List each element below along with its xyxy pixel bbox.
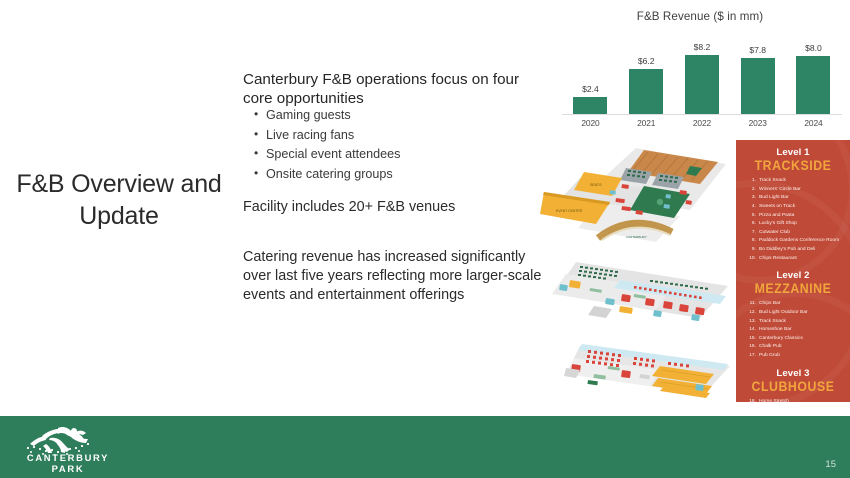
- venue-name: Track Snack: [759, 319, 786, 324]
- bar-column: $8.2: [678, 36, 727, 114]
- bar: [741, 58, 775, 114]
- bar-column: $2.4: [566, 36, 615, 114]
- venue-item: 12.Bud Light Outdoor Bar: [745, 309, 844, 318]
- venue-item: 16.Chalk Pub: [745, 343, 844, 352]
- venue-list-level-1: 1.Track Snack 2.Winners' Circle Bar 3.Bu…: [745, 177, 844, 263]
- bar: [629, 69, 663, 114]
- venue-name: Bud Light Bar: [759, 195, 789, 200]
- bar-value-label: $6.2: [638, 56, 655, 66]
- legend-group-level-2: Level 2 MEZZANINE 11.Chips Bar 12.Bud Li…: [742, 270, 844, 360]
- level-name: TRACKSIDE: [746, 158, 840, 173]
- list-item: Live racing fans: [252, 126, 542, 146]
- bar: [685, 55, 719, 114]
- lead-heading: Canterbury F&B operations focus on four …: [243, 70, 533, 109]
- venue-number: 3.: [745, 194, 756, 203]
- venue-number: 4.: [745, 203, 756, 212]
- list-item: Special event attendees: [252, 145, 542, 165]
- venue-name: Pub Grub: [759, 353, 780, 358]
- venue-name: Canterbury Classics: [759, 336, 803, 341]
- venue-number: 12.: [745, 309, 756, 318]
- venue-name: Home Stretch: [759, 399, 789, 402]
- facility-note: Facility includes 20+ F&B venues: [243, 198, 543, 217]
- venue-item: 5.Pizza and Pasta: [745, 212, 844, 221]
- slide-footer: CANTERBURY PARK 15: [0, 416, 850, 478]
- venue-item: 8.Paddock Gardens Conference Room: [745, 237, 844, 246]
- venue-name: Cutwater Club: [759, 230, 790, 235]
- bar-column: $8.0: [789, 36, 838, 114]
- chart-title: F&B Revenue ($ in mm): [556, 10, 844, 23]
- venue-name: Chalk Pub: [759, 344, 782, 349]
- svg-text:EVENT CENTER: EVENT CENTER: [556, 209, 583, 213]
- venue-number: 18.: [745, 398, 756, 402]
- logo-wordmark: CANTERBURY PARK: [12, 452, 124, 474]
- venue-number: 7.: [745, 229, 756, 238]
- venue-item: 15.Canterbury Classics: [745, 335, 844, 344]
- venue-legend-panel: Level 1 TRACKSIDE 1.Track Snack 2.Winner…: [736, 140, 850, 402]
- venue-name: Sweets on Track: [759, 204, 795, 209]
- x-tick-label: 2024: [789, 118, 838, 128]
- level-label: Level 2: [742, 270, 844, 281]
- venue-name: Chips Bar: [759, 301, 780, 306]
- legend-group-level-3: Level 3 CLUBHOUSE 18.Home Stretch 19.Pad…: [742, 368, 844, 402]
- venue-list-level-3: 18.Home Stretch 19.Paddock Bar: [745, 398, 844, 402]
- venue-item: 6.Lucky's Gift Shop: [745, 220, 844, 229]
- venue-number: 16.: [745, 343, 756, 352]
- venue-number: 8.: [745, 237, 756, 246]
- venue-name: Bud Light Outdoor Bar: [759, 310, 808, 315]
- venue-name: Horseshoe Bar: [759, 327, 792, 332]
- x-tick-label: 2021: [622, 118, 671, 128]
- venue-number: 10.: [745, 255, 756, 264]
- venue-number: 13.: [745, 318, 756, 327]
- venue-item: 17.Pub Grub: [745, 352, 844, 361]
- logo-line-1: CANTERBURY: [12, 452, 124, 463]
- venue-number: 1.: [745, 177, 756, 186]
- venue-number: 15.: [745, 335, 756, 344]
- svg-text:SEATS: SEATS: [590, 183, 602, 187]
- floorplan-illustrations: EVENT CENTER SEATS CANTERBURY: [534, 140, 739, 408]
- bar-value-label: $2.4: [582, 84, 599, 94]
- catering-note: Catering revenue has increased significa…: [243, 248, 543, 305]
- chart-x-axis: 2020 2021 2022 2023 2024: [566, 118, 838, 128]
- venue-item: 13.Track Snack: [745, 318, 844, 327]
- venue-item: 14.Horseshoe Bar: [745, 326, 844, 335]
- bar-column: $6.2: [622, 36, 671, 114]
- bar: [796, 56, 830, 114]
- list-item: Onsite catering groups: [252, 165, 542, 185]
- bar-value-label: $8.2: [694, 42, 711, 52]
- level-name: MEZZANINE: [746, 281, 840, 296]
- bar-value-label: $8.0: [805, 43, 822, 53]
- chart-plot-area: $2.4 $6.2 $8.2 $7.8 $8.0: [566, 36, 838, 114]
- x-tick-label: 2020: [566, 118, 615, 128]
- x-tick-label: 2022: [678, 118, 727, 128]
- page-number: 15: [825, 459, 836, 470]
- logo-line-2: PARK: [12, 463, 124, 474]
- fb-revenue-chart: F&B Revenue ($ in mm) $2.4 $6.2 $8.2 $7.…: [556, 6, 844, 134]
- svg-text:CANTERBURY: CANTERBURY: [626, 235, 647, 239]
- venue-name: Chips Restaurant: [759, 256, 797, 261]
- venue-number: 9.: [745, 246, 756, 255]
- chart-baseline: [562, 114, 842, 115]
- level-3-clubhouse-floorplan: [560, 336, 736, 408]
- venue-name: Pizza and Pasta: [759, 213, 794, 218]
- bar-column: $7.8: [733, 36, 782, 114]
- venue-name: Winners' Circle Bar: [759, 187, 801, 192]
- venue-number: 6.: [745, 220, 756, 229]
- venue-item: 4.Sweets on Track: [745, 203, 844, 212]
- venue-item: 10.Chips Restaurant: [745, 255, 844, 264]
- venue-name: Bo Diddley's Pub and Deli: [759, 247, 815, 252]
- venue-number: 5.: [745, 212, 756, 221]
- venue-name: Lucky's Gift Shop: [759, 221, 797, 226]
- venue-item: 1.Track Snack: [745, 177, 844, 186]
- venue-name: Paddock Gardens Conference Room: [759, 238, 839, 243]
- level-label: Level 3: [742, 368, 844, 379]
- venue-number: 14.: [745, 326, 756, 335]
- venue-number: 17.: [745, 352, 756, 361]
- venue-item: 18.Home Stretch: [745, 398, 844, 402]
- venue-item: 7.Cutwater Club: [745, 229, 844, 238]
- level-2-mezzanine-floorplan: [546, 252, 736, 334]
- legend-group-level-1: Level 1 TRACKSIDE 1.Track Snack 2.Winner…: [742, 147, 844, 263]
- list-item: Gaming guests: [252, 106, 542, 126]
- bar-value-label: $7.8: [749, 45, 766, 55]
- venue-item: 2.Winners' Circle Bar: [745, 186, 844, 195]
- venue-number: 11.: [745, 300, 756, 309]
- level-name: CLUBHOUSE: [746, 379, 840, 394]
- level-label: Level 1: [742, 147, 844, 158]
- x-tick-label: 2023: [733, 118, 782, 128]
- opportunity-bullet-list: Gaming guests Live racing fans Special e…: [252, 106, 542, 184]
- level-1-trackside-floorplan: EVENT CENTER SEATS CANTERBURY: [536, 142, 732, 250]
- venue-item: 3.Bud Light Bar: [745, 194, 844, 203]
- venue-item: 11.Chips Bar: [745, 300, 844, 309]
- venue-item: 9.Bo Diddley's Pub and Deli: [745, 246, 844, 255]
- venue-number: 2.: [745, 186, 756, 195]
- venue-list-level-2: 11.Chips Bar 12.Bud Light Outdoor Bar 13…: [745, 300, 844, 360]
- venue-name: Track Snack: [759, 178, 786, 183]
- page-title: F&B Overview and Update: [8, 168, 230, 232]
- bar: [573, 97, 607, 114]
